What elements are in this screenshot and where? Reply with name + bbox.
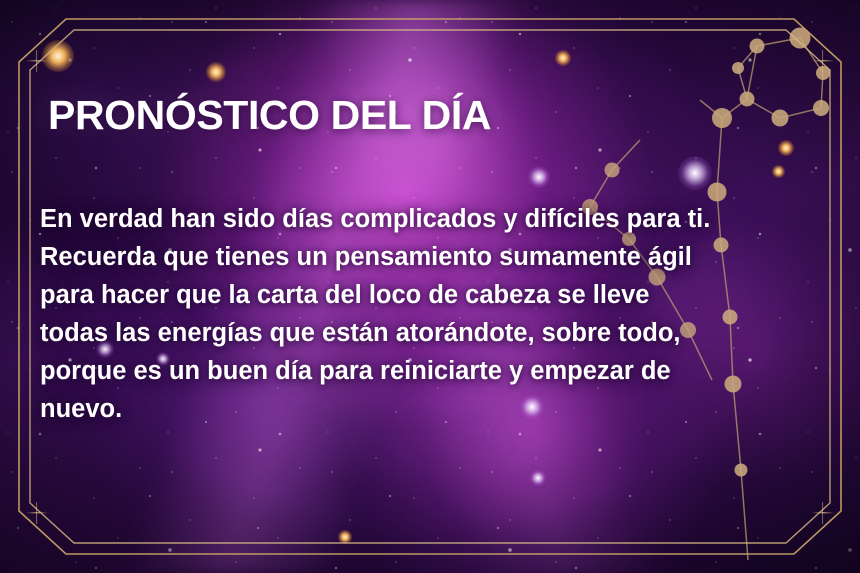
body-line: nuevo. xyxy=(40,390,780,428)
body-line: para hacer que la carta del loco de cabe… xyxy=(40,276,780,314)
body-line: En verdad han sido días complicados y di… xyxy=(40,200,780,238)
body-line: Recuerda que tienes un pensamiento sumam… xyxy=(40,238,780,276)
card-content: PRONÓSTICO DEL DÍA En verdad han sido dí… xyxy=(0,0,860,573)
body-line: porque es un buen día para reiniciarte y… xyxy=(40,352,780,390)
horoscope-card: PRONÓSTICO DEL DÍA En verdad han sido dí… xyxy=(0,0,860,573)
page-title: PRONÓSTICO DEL DÍA xyxy=(48,92,491,139)
forecast-body: En verdad han sido días complicados y di… xyxy=(40,200,780,428)
body-line: todas las energías que están atorándote,… xyxy=(40,314,780,352)
